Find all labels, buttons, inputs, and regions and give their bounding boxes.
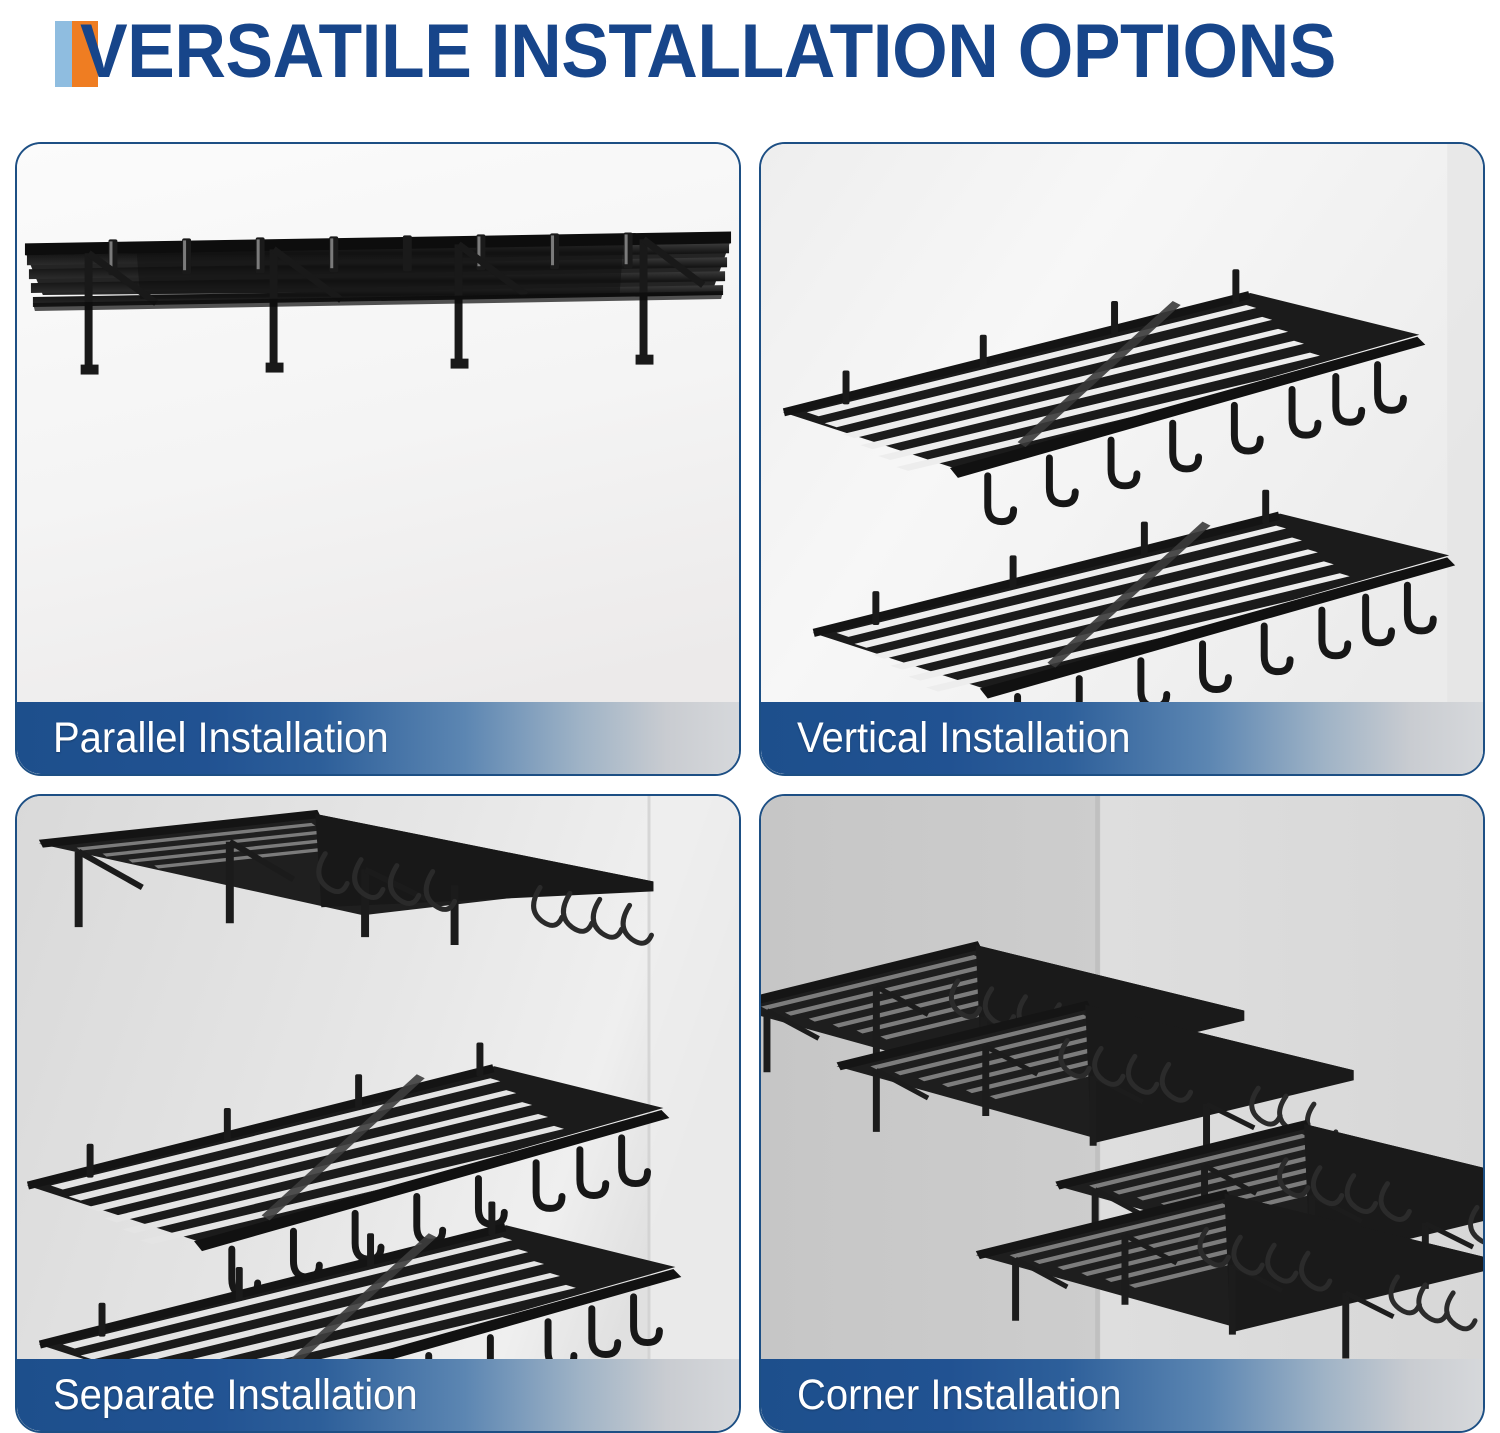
infographic-page: VERSATILE INSTALLATION OPTIONS [0, 0, 1500, 1433]
caption-label: Separate Installation [53, 1371, 418, 1420]
caption-label: Vertical Installation [797, 714, 1130, 763]
panel-corner[interactable]: Corner Installation [759, 794, 1485, 1433]
panel-grid: Parallel Installation [15, 142, 1485, 1433]
product-photo-vertical [761, 144, 1483, 774]
caption-label: Parallel Installation [53, 714, 389, 763]
panel-separate[interactable]: Separate Installation [15, 794, 741, 1433]
panel-parallel[interactable]: Parallel Installation [15, 142, 741, 776]
caption-banner-parallel: Parallel Installation [17, 702, 739, 774]
panel-vertical[interactable]: Vertical Installation [759, 142, 1485, 776]
caption-banner-vertical: Vertical Installation [761, 702, 1483, 774]
caption-banner-corner: Corner Installation [761, 1359, 1483, 1431]
product-photo-separate [17, 796, 739, 1431]
page-title: VERSATILE INSTALLATION OPTIONS [80, 14, 1336, 90]
product-photo-corner [761, 796, 1483, 1431]
header: VERSATILE INSTALLATION OPTIONS [0, 0, 1500, 108]
caption-banner-separate: Separate Installation [17, 1359, 739, 1431]
caption-label: Corner Installation [797, 1371, 1122, 1420]
product-photo-parallel [17, 144, 739, 774]
